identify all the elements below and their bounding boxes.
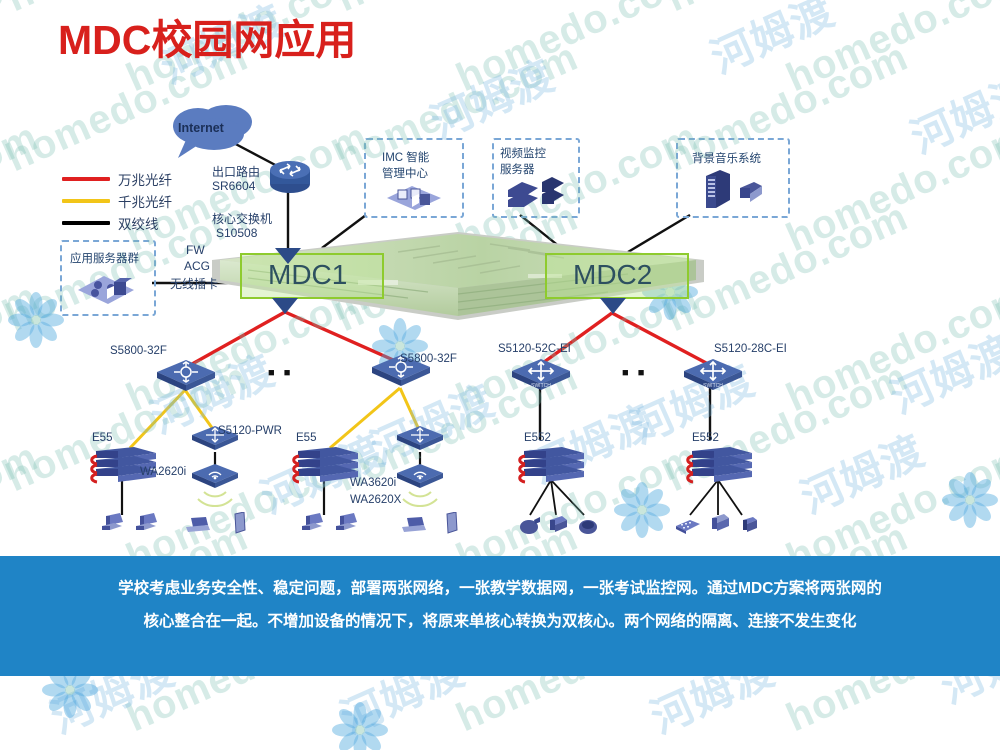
tablet-left-2 [444, 512, 460, 536]
stack-label-e552-right-1: E552 [524, 432, 551, 444]
switch-s5120-52c-ei[interactable]: SWITCH [510, 357, 572, 391]
video-server-label-line1: 视频监控 [500, 145, 546, 161]
stack-e55-left-1[interactable] [88, 443, 158, 485]
stack-label-e552-right-2: E552 [692, 432, 719, 444]
legend-label-1: 千兆光纤 [118, 191, 172, 211]
app-server-group-label: 应用服务器群 [70, 250, 139, 266]
caption-line-1: 学校考虑业务安全性、稳定问题，部署两张网络，一张教学数据网，一张考试监控网。通过… [22, 572, 978, 605]
core-card-fw: FW [186, 243, 205, 257]
ap-wa2620i-left[interactable] [190, 462, 240, 490]
app-server-icon [74, 268, 138, 306]
legend-label-0: 万兆光纤 [118, 169, 172, 189]
router-sr6604[interactable] [268, 158, 312, 194]
core-card-acg: ACG [184, 259, 210, 273]
stack-label-e55-left-2: E55 [296, 432, 316, 444]
mdc1-label: MDC1 [268, 259, 347, 291]
router-label-line1: 出口路由 [212, 163, 260, 180]
poe-switch-label: S5120-PWR [218, 425, 282, 437]
caption-text: 学校考虑业务安全性、稳定问题，部署两张网络，一张教学数据网，一张考试监控网。通过… [0, 572, 1000, 638]
stack-e552-right-1[interactable] [516, 443, 586, 485]
switch-label-s5120-52c: S5120-52C-EI [498, 343, 571, 355]
ap-label-wa3620i: WA3620i [350, 477, 396, 489]
laptop-left-1 [184, 516, 212, 536]
ap-label-wa2620x: WA2620X [350, 494, 401, 506]
switch-s5120-28c-ei[interactable]: SWITCH [682, 357, 744, 391]
imc-label-line1: IMC 智能 [382, 149, 429, 165]
legend-swatch-0 [62, 177, 110, 181]
tablet-left-1 [232, 512, 248, 541]
video-server-label-line2: 服务器 [500, 161, 535, 177]
switch-label-s5120-28c: S5120-28C-EI [714, 343, 787, 355]
pc-left-3 [300, 512, 326, 536]
camera-right-2 [546, 512, 570, 536]
pc-left-1 [100, 512, 126, 536]
monitor-right-1 [708, 512, 732, 536]
imc-label-line2: 管理中心 [382, 165, 428, 181]
video-server-icon [506, 172, 568, 212]
core-card-wireless: 无线插卡 [170, 275, 218, 292]
legend-label-2: 双绞线 [118, 213, 159, 233]
switch-s5800-32f-1[interactable] [155, 358, 217, 392]
internet-label: Internet [178, 121, 224, 135]
chassis-port-bottom-left [272, 298, 298, 314]
legend-swatch-2 [62, 221, 110, 225]
ellipsis-right: ■ ■ [622, 367, 647, 379]
ap-label-wa2620i: WA2620i [140, 466, 186, 478]
core-switch-label-line2: S10508 [216, 226, 257, 240]
svg-text:SWITCH: SWITCH [531, 383, 551, 389]
laptop-left-2 [400, 516, 428, 536]
svg-text:SWITCH: SWITCH [703, 383, 723, 389]
pc-left-4 [334, 512, 360, 536]
page-title: MDC校园网应用 [58, 6, 356, 66]
switch-label-s5800-1: S5800-32F [110, 345, 167, 357]
keypad-right-1 [672, 516, 702, 536]
router-label-line2: SR6604 [212, 179, 255, 193]
device-right-2 [740, 514, 760, 536]
ap-wa3620i-right[interactable] [395, 462, 445, 490]
stack-label-e55-left-1: E55 [92, 432, 112, 444]
caption-line-2: 核心整合在一起。不增加设备的情况下，将原来单核心转换为双核心。两个网络的隔离、连… [22, 605, 978, 638]
legend-swatch-1 [62, 199, 110, 203]
mdc2-label: MDC2 [573, 259, 652, 291]
ellipsis-left: ■ ■ [268, 367, 293, 379]
core-switch-label-line1: 核心交换机 [212, 210, 272, 227]
switch-label-s5800-2: S5800-32F [400, 353, 457, 365]
camera-right-1 [518, 514, 542, 536]
camera-right-3 [576, 514, 600, 536]
imc-server-icon [384, 180, 444, 212]
chassis-port-bottom-right [600, 298, 626, 314]
slide-canvas: homedo.comhomedo.comhomedo.comhomedo.com… [0, 0, 1000, 750]
switch-s5120-pwr-right[interactable] [395, 424, 445, 452]
stack-e552-right-2[interactable] [684, 443, 754, 485]
music-system-label: 背景音乐系统 [692, 150, 761, 166]
pc-left-2 [134, 512, 160, 536]
music-system-icon [700, 168, 766, 212]
